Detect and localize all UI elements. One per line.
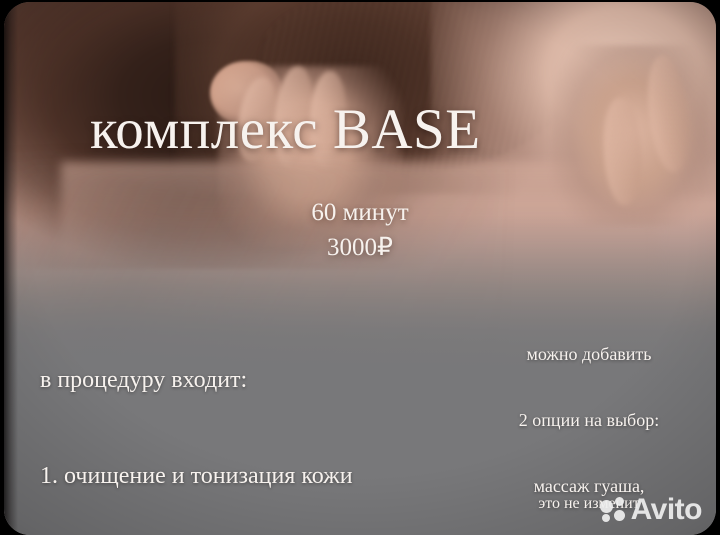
background-photo: комплекс BASE 60 минут 3000₽ в процедуру… [4, 2, 716, 535]
price-label: 3000₽ [4, 233, 716, 263]
poster-title: комплекс BASE [90, 99, 481, 161]
addons-line: 2 опции на выбор: [474, 409, 704, 431]
duration-label: 60 минут [4, 198, 716, 228]
included-item: 1. очищение и тонизация кожи [40, 460, 353, 492]
avito-logo-icon [600, 497, 626, 523]
addons-line: можно добавить [474, 343, 704, 365]
avito-watermark: Avito [600, 495, 702, 525]
promo-poster: комплекс BASE 60 минут 3000₽ в процедуру… [0, 0, 720, 535]
avito-watermark-label: Avito [631, 495, 702, 525]
included-heading: в процедуру входит: [40, 364, 353, 396]
included-list: в процедуру входит: 1. очищение и тониза… [40, 300, 353, 535]
